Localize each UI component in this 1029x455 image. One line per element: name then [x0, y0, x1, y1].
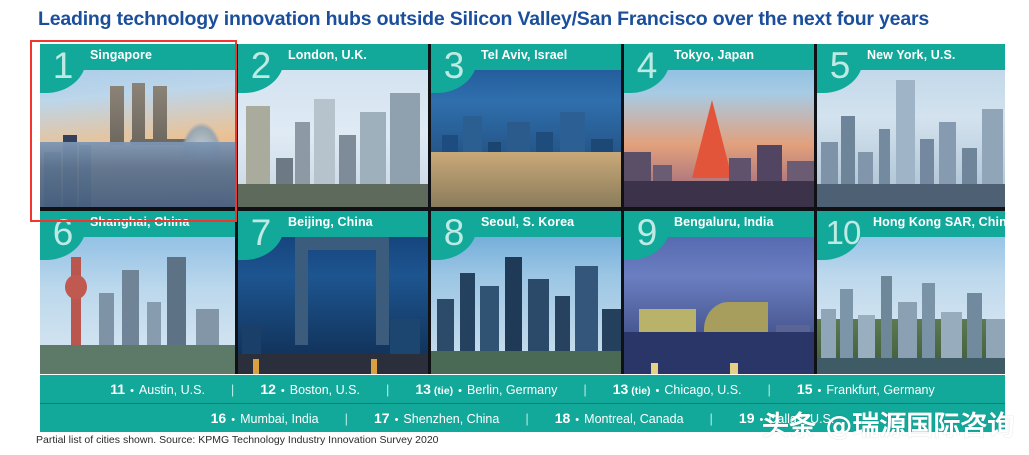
entry-city-name: Berlin, Germany [467, 383, 557, 397]
city-name: New York, U.S. [867, 48, 955, 62]
watermark: 头条 @瑞源国际咨询 [762, 404, 1014, 443]
entry-bullet-icon: • [130, 385, 134, 397]
rank-number: 1 [40, 44, 86, 91]
city-row-2: 6 Shanghai, China 7 Beijing, China [40, 211, 1005, 374]
entry-tie-label: (tie) [631, 385, 650, 397]
entry-city-name: Frankfurt, Germany [826, 383, 934, 397]
rank-number: 2 [238, 44, 284, 91]
city-card-new-york[interactable]: 5 New York, U.S. [817, 44, 1005, 207]
entry-bullet-icon: • [231, 414, 235, 426]
entry-rank: 19 [739, 410, 755, 426]
entry-rank: 13 [613, 381, 629, 397]
city-name: Bengaluru, India [674, 215, 774, 229]
city-name: Hong Kong SAR, China [873, 215, 1005, 229]
entry-rank: 12 [260, 381, 276, 397]
runner-up-entry[interactable]: 16•Mumbai, India [211, 410, 319, 426]
city-card-tel-aviv[interactable]: 3 Tel Aviv, Israel [431, 44, 621, 207]
runner-up-entry[interactable]: 13(tie)•Chicago, U.S. [613, 381, 742, 397]
entry-city-name: Shenzhen, China [403, 412, 499, 426]
entry-rank: 17 [374, 410, 390, 426]
city-card-hong-kong[interactable]: 10 Hong Kong SAR, China [817, 211, 1005, 374]
rank-number: 7 [238, 211, 284, 258]
rank-number: 6 [40, 211, 86, 258]
city-name: Beijing, China [288, 215, 373, 229]
list-separator: | [583, 382, 586, 397]
source-footnote: Partial list of cities shown. Source: KP… [36, 434, 439, 446]
infographic-root: Leading technology innovation hubs outsi… [0, 0, 1029, 455]
city-card-shanghai[interactable]: 6 Shanghai, China [40, 211, 235, 374]
entry-rank: 11 [110, 381, 125, 397]
entry-city-name: Austin, U.S. [139, 383, 205, 397]
city-name: Singapore [90, 48, 152, 62]
city-card-bengaluru[interactable]: 9 Bengaluru, India [624, 211, 814, 374]
list-separator: | [345, 411, 348, 426]
rank-number: 8 [431, 211, 477, 258]
runner-up-entry[interactable]: 15•Frankfurt, Germany [797, 381, 935, 397]
list-separator: | [231, 382, 234, 397]
rank-number: 9 [624, 211, 670, 258]
entry-tie-label: (tie) [434, 385, 453, 397]
runner-up-entry[interactable]: 18•Montreal, Canada [555, 410, 684, 426]
city-card-london[interactable]: 2 London, U.K. [238, 44, 428, 207]
city-card-grid: 1 Singapore 2 London, U.K. [40, 44, 1005, 374]
runner-up-entry[interactable]: 11•Austin, U.S. [110, 381, 205, 397]
list-separator: | [386, 382, 389, 397]
entry-rank: 13 [415, 381, 431, 397]
city-name: London, U.K. [288, 48, 367, 62]
runner-up-entry[interactable]: 17•Shenzhen, China [374, 410, 499, 426]
entry-city-name: Chicago, U.S. [664, 383, 741, 397]
city-name: Shanghai, China [90, 215, 189, 229]
entry-rank: 15 [797, 381, 813, 397]
entry-bullet-icon: • [281, 385, 285, 397]
list-separator: | [768, 382, 771, 397]
entry-city-name: Mumbai, India [240, 412, 319, 426]
entry-bullet-icon: • [818, 385, 822, 397]
entry-city-name: Montreal, Canada [584, 412, 683, 426]
rank-number: 10 [817, 211, 869, 258]
city-name: Tokyo, Japan [674, 48, 754, 62]
city-name: Tel Aviv, Israel [481, 48, 567, 62]
entry-bullet-icon: • [575, 414, 579, 426]
rank-number: 4 [624, 44, 670, 91]
runner-up-list-row-1: 11•Austin, U.S.|12•Boston, U.S.|13(tie)•… [40, 375, 1005, 403]
city-card-singapore[interactable]: 1 Singapore [40, 44, 235, 207]
city-row-1: 1 Singapore 2 London, U.K. [40, 44, 1005, 207]
city-card-beijing[interactable]: 7 Beijing, China [238, 211, 428, 374]
rank-number: 5 [817, 44, 863, 91]
entry-city-name: Boston, U.S. [290, 383, 360, 397]
city-name: Seoul, S. Korea [481, 215, 574, 229]
rank-number: 3 [431, 44, 477, 91]
city-card-seoul[interactable]: 8 Seoul, S. Korea [431, 211, 621, 374]
entry-bullet-icon: • [656, 385, 660, 397]
list-separator: | [525, 411, 528, 426]
runner-up-entry[interactable]: 13(tie)•Berlin, Germany [415, 381, 557, 397]
page-title: Leading technology innovation hubs outsi… [38, 8, 1008, 31]
entry-rank: 18 [555, 410, 571, 426]
runner-up-entry[interactable]: 12•Boston, U.S. [260, 381, 360, 397]
list-separator: | [710, 411, 713, 426]
entry-bullet-icon: • [458, 385, 462, 397]
entry-rank: 16 [211, 410, 227, 426]
entry-bullet-icon: • [395, 414, 399, 426]
city-card-tokyo[interactable]: 4 Tokyo, Japan [624, 44, 814, 207]
